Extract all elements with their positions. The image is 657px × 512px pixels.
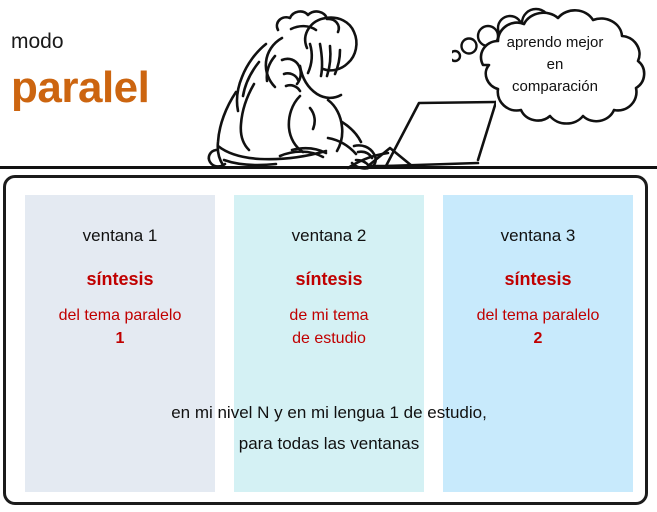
thought-line-3: comparación: [470, 76, 640, 98]
person-studying-at-laptop-icon: [196, 0, 496, 170]
synthesis-desc-line1-2: de mi tema: [234, 304, 424, 327]
synthesis-desc-line2-2: de estudio: [234, 327, 424, 350]
windows-columns-container: ventana 1 síntesis del tema paralelo 1 v…: [25, 195, 633, 492]
window-column-3[interactable]: ventana 3 síntesis del tema paralelo 2: [443, 195, 633, 492]
window-label-3: ventana 3: [443, 225, 633, 247]
synthesis-desc-line1-1: del tema paralelo: [25, 304, 215, 327]
mode-name-title: paralel: [11, 62, 149, 114]
parallel-mode-panel: ventana 1 síntesis del tema paralelo 1 v…: [3, 175, 648, 505]
synthesis-title-1: síntesis: [25, 268, 215, 290]
header-illustration-area: modo paralel: [0, 0, 657, 172]
synthesis-desc-line2-1: 1: [25, 327, 215, 350]
synthesis-description-3: del tema paralelo 2: [443, 304, 633, 350]
window-column-2[interactable]: ventana 2 síntesis de mi tema de estudio: [234, 195, 424, 492]
synthesis-title-3: síntesis: [443, 268, 633, 290]
synthesis-desc-line2-3: 2: [443, 327, 633, 350]
thought-bubble-text: aprendo mejor en comparación: [470, 32, 640, 98]
synthesis-description-2: de mi tema de estudio: [234, 304, 424, 350]
synthesis-desc-line1-3: del tema paralelo: [443, 304, 633, 327]
desk-line-divider: [0, 166, 657, 169]
thought-line-1: aprendo mejor: [470, 32, 640, 54]
window-label-1: ventana 1: [25, 225, 215, 247]
synthesis-description-1: del tema paralelo 1: [25, 304, 215, 350]
synthesis-title-2: síntesis: [234, 268, 424, 290]
thought-line-2: en: [470, 54, 640, 76]
window-label-2: ventana 2: [234, 225, 424, 247]
window-column-1[interactable]: ventana 1 síntesis del tema paralelo 1: [25, 195, 215, 492]
mode-label: modo: [11, 30, 64, 54]
